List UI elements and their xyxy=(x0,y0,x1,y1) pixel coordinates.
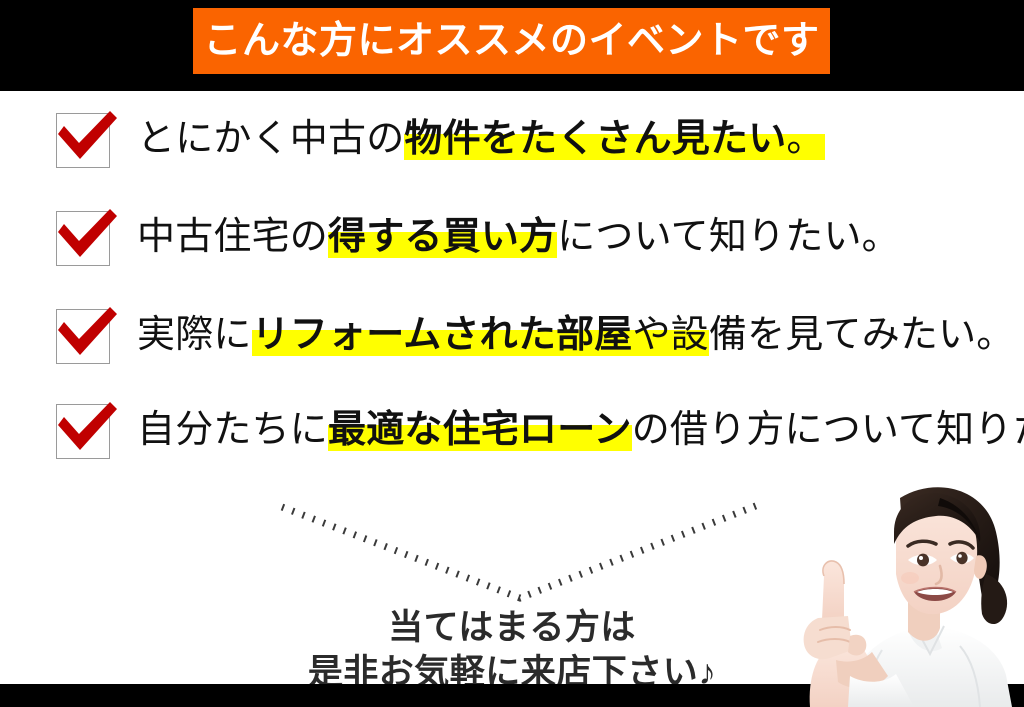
text-lead: 実際に xyxy=(137,314,252,356)
text-tail: の借り方について知りたい。 xyxy=(632,409,1024,451)
text-tail: 備を見てみたい。 xyxy=(709,314,1015,356)
dotted-chevron-down-icon xyxy=(270,495,770,610)
red-checkmark-icon xyxy=(53,107,121,173)
text-tail: 。 xyxy=(786,118,824,160)
checklist-item-text: とにかく中古の物件をたくさん見たい。 xyxy=(137,118,825,162)
text-lead: とにかく中古の xyxy=(137,118,404,160)
checkbox[interactable] xyxy=(56,404,110,459)
promo-flyer: こんな方にオススメのイベントです とにかく中古の物件をたくさん見たい。 中古住宅… xyxy=(0,0,1024,707)
red-checkmark-icon xyxy=(53,205,121,271)
call-to-action-text: 当てはまる方は 是非お気軽に来店下さい♪ xyxy=(0,606,1024,696)
checklist-item[interactable]: 実際にリフォームされた部屋や設備を見てみたい。 xyxy=(0,301,1024,371)
checkbox[interactable] xyxy=(56,309,110,364)
bottom-black-band xyxy=(0,684,1024,707)
text-lead: 自分たちに xyxy=(137,409,328,451)
red-checkmark-icon xyxy=(53,303,121,369)
banner-title: こんな方にオススメのイベントです xyxy=(203,22,819,60)
checklist-item[interactable]: とにかく中古の物件をたくさん見たい。 xyxy=(0,105,1024,175)
header-banner: こんな方にオススメのイベントです xyxy=(193,8,830,74)
checklist-item-text: 実際にリフォームされた部屋や設備を見てみたい。 xyxy=(137,314,1015,358)
checklist-item-text: 自分たちに最適な住宅ローンの借り方について知りたい。 xyxy=(137,409,1024,453)
text-highlight: 物件をたくさん見たい xyxy=(404,118,786,160)
checkbox[interactable] xyxy=(56,113,110,168)
text-highlight: 最適な住宅ローン xyxy=(328,409,632,451)
red-checkmark-icon xyxy=(53,398,121,464)
cta-line-1: 当てはまる方は xyxy=(0,606,1024,651)
checkbox[interactable] xyxy=(56,211,110,266)
text-tail-highlight: や設 xyxy=(632,314,708,356)
text-highlight: 得する買い方 xyxy=(328,216,557,258)
text-lead: 中古住宅の xyxy=(137,216,328,258)
checklist-item-text: 中古住宅の得する買い方について知りたい。 xyxy=(137,216,900,260)
text-tail: について知りたい。 xyxy=(557,216,900,258)
checklist-item[interactable]: 中古住宅の得する買い方について知りたい。 xyxy=(0,203,1024,273)
checklist-item[interactable]: 自分たちに最適な住宅ローンの借り方について知りたい。 xyxy=(0,396,1024,466)
text-highlight: リフォームされた部屋 xyxy=(252,314,633,356)
